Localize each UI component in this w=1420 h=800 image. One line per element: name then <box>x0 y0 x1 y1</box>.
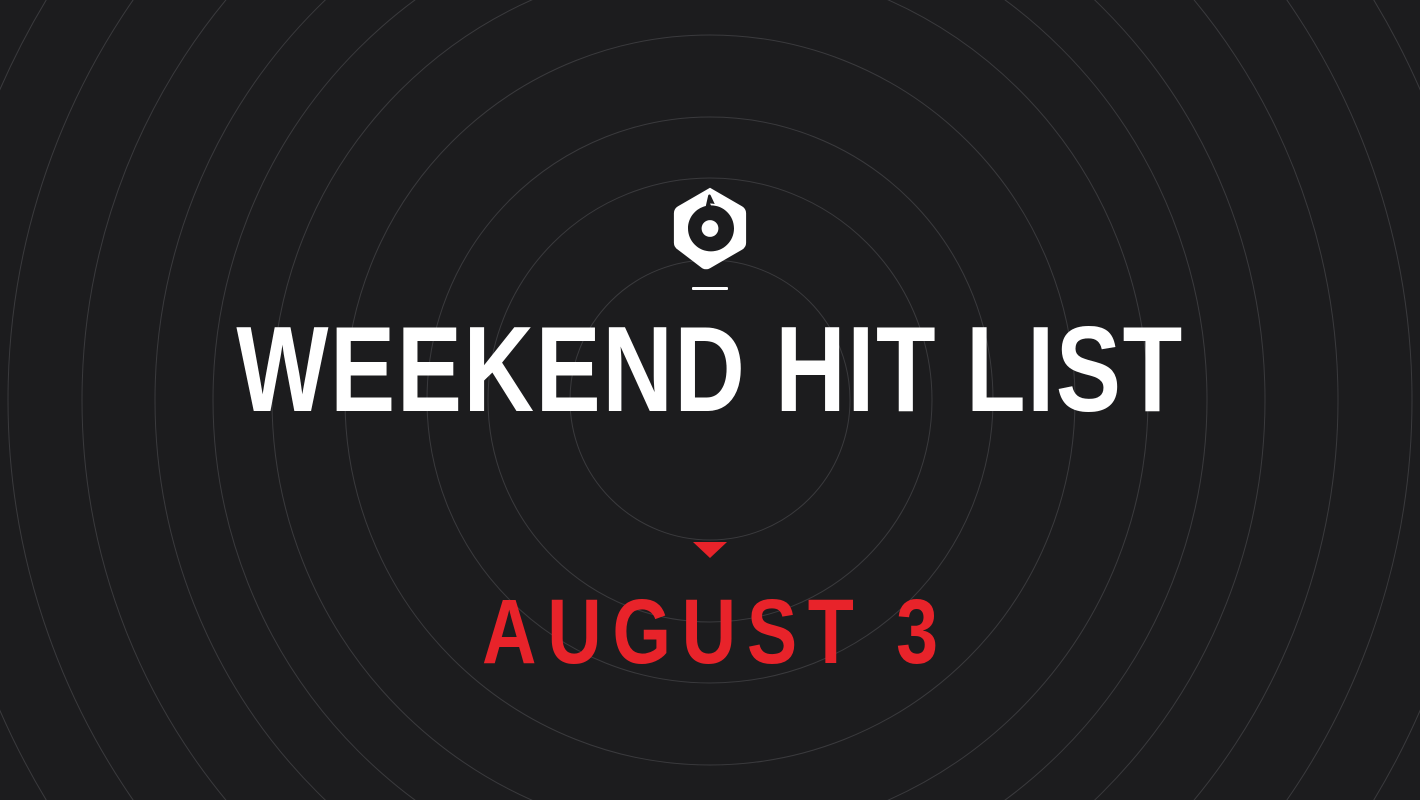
poster-canvas: WEEKEND HIT LIST AUGUST 3 <box>0 0 1420 800</box>
date-label: AUGUST 3 <box>471 586 948 678</box>
poster-content: WEEKEND HIT LIST AUGUST 3 <box>0 0 1420 800</box>
vinyl-record-flame-hexagon-icon <box>672 186 748 270</box>
title-divider <box>692 287 728 290</box>
triangle-down-icon <box>693 542 727 558</box>
page-title: WEEKEND HIT LIST <box>236 312 1183 428</box>
